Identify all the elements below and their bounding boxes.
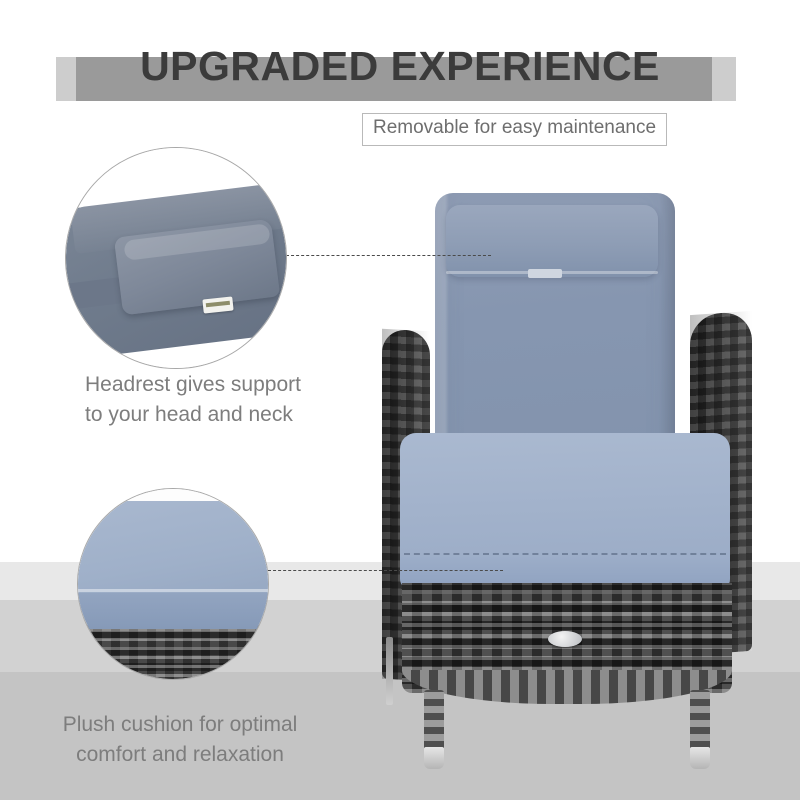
caption-cushion-line1: Plush cushion for optimal (30, 710, 330, 740)
caption-cushion-line2: comfort and relaxation (30, 740, 330, 770)
front-leg-right (690, 690, 710, 755)
cushion-closeup-rattan-highlight (77, 625, 269, 680)
caption-headrest-line2: to your head and neck (85, 400, 385, 430)
connector-line-cushion (268, 570, 503, 571)
callout-circle-cushion (77, 488, 269, 680)
page-title: UPGRADED EXPERIENCE (0, 46, 800, 87)
connector-line-headrest (286, 255, 491, 256)
subtitle-box: Removable for easy maintenance (362, 113, 667, 146)
caption-headrest: Headrest gives support to your head and … (85, 370, 385, 431)
caption-cushion: Plush cushion for optimal comfort and re… (30, 710, 330, 771)
headrest-bolster-pillow (446, 205, 658, 277)
product-photo (360, 185, 790, 760)
brand-badge-icon (548, 631, 582, 647)
headrest-strap-clip (528, 269, 562, 278)
aluminium-foot-right (690, 747, 710, 769)
seat-cushion-stitching (404, 553, 726, 555)
callout-circle-headrest (65, 147, 287, 369)
aluminium-foot-left (424, 747, 444, 769)
front-leg-left (424, 690, 444, 755)
rattan-base-apron (402, 670, 732, 704)
headrest-closeup-image (66, 148, 286, 368)
subtitle-text: Removable for easy maintenance (373, 117, 656, 138)
product-feature-image: Headrest gives support to your head and … (0, 0, 800, 800)
cushion-closeup-front-face (77, 593, 269, 629)
cushion-closeup-seam (77, 589, 269, 592)
caption-headrest-line1: Headrest gives support (85, 370, 385, 400)
recliner-support-rod (386, 637, 393, 705)
cushion-closeup-image (78, 489, 268, 679)
